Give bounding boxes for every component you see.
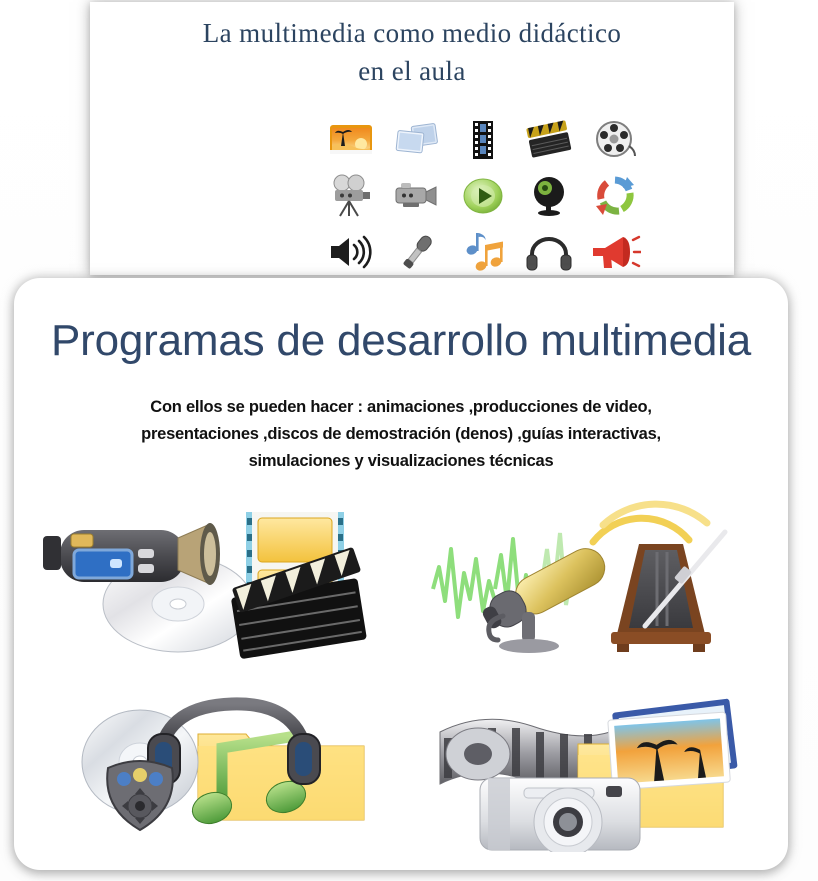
headphones-icon — [523, 228, 575, 275]
movie-projector-icon — [325, 172, 377, 220]
speaker-volume-icon — [325, 228, 377, 275]
photos-stack-icon — [391, 116, 443, 164]
music-media-illustration — [24, 674, 401, 860]
photo-media-illustration — [401, 674, 778, 860]
illustration-grid — [24, 488, 778, 860]
film-reel-icon — [589, 116, 641, 164]
microphone-icon — [391, 228, 443, 275]
megaphone-icon — [589, 228, 641, 275]
audio-production-illustration — [401, 488, 778, 674]
refresh-arrows-icon — [589, 172, 641, 220]
sound-waves-icon — [593, 504, 707, 542]
filmstrip-icon — [457, 116, 509, 164]
slide-2-body-text: Con ellos se pueden hacer : animaciones … — [101, 394, 701, 475]
photo-sunset-icon — [325, 116, 377, 164]
play-button-icon — [457, 172, 509, 220]
webcam-icon — [523, 172, 575, 220]
metronome-icon — [593, 504, 725, 652]
slide-2[interactable]: Programas de desarrollo multimedia Con e… — [14, 278, 788, 870]
clapperboard-icon — [523, 116, 575, 164]
media-remote-icon — [107, 761, 173, 830]
slide-1[interactable]: La multimedia como medio didáctico en el… — [90, 2, 734, 275]
slide-stage: La multimedia como medio didáctico en el… — [0, 0, 818, 881]
slide-2-title: Programas de desarrollo multimedia — [14, 278, 788, 368]
photo-sunset-icon — [607, 698, 737, 790]
multimedia-icon-grid — [318, 112, 648, 275]
video-production-illustration — [24, 488, 401, 674]
digital-camera-icon — [480, 778, 640, 852]
slide-1-title: La multimedia como medio didáctico en el… — [90, 2, 734, 90]
video-camera-icon — [391, 172, 443, 220]
video-camera-icon — [43, 523, 220, 585]
music-notes-icon — [457, 228, 509, 275]
